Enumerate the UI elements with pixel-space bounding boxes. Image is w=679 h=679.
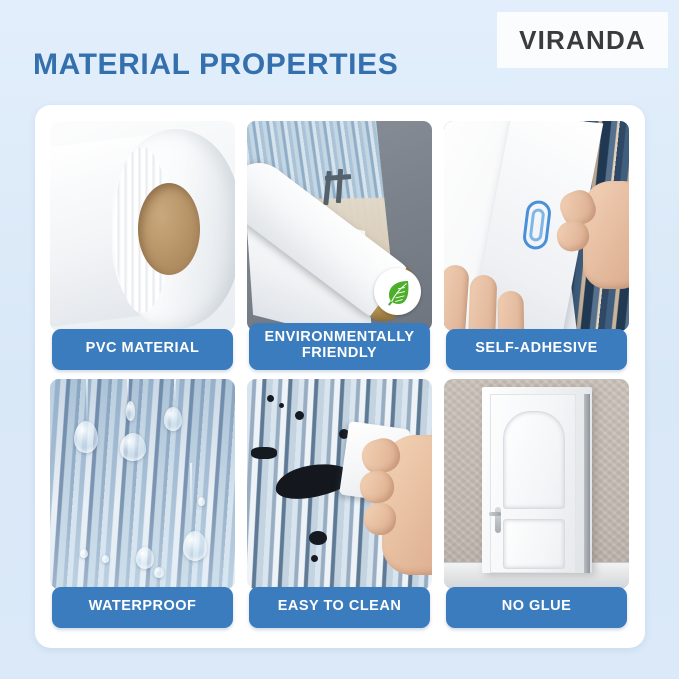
feature-cell-easy-to-clean[interactable]: EASY TO CLEAN — [247, 379, 432, 628]
features-card: PVC MATERIAL — [35, 105, 645, 648]
feature-label-environmentally-friendly: ENVIRONMENTALLY FRIENDLY — [249, 323, 430, 370]
feature-label-waterproof: WATERPROOF — [52, 587, 233, 628]
feature-cell-waterproof[interactable]: WATERPROOF — [50, 379, 235, 628]
page-title: MATERIAL PROPERTIES — [33, 48, 398, 82]
paperclip-icon — [519, 197, 555, 252]
easy-to-clean-photo — [247, 379, 432, 589]
feature-cell-self-adhesive[interactable]: SELF-ADHESIVE — [444, 121, 629, 370]
features-grid: PVC MATERIAL — [50, 121, 630, 628]
feature-label-self-adhesive: SELF-ADHESIVE — [446, 329, 627, 370]
brand-name: VIRANDA — [519, 25, 646, 56]
feature-cell-environmentally-friendly[interactable]: ENVIRONMENTALLY FRIENDLY — [247, 121, 432, 370]
waterproof-photo — [50, 379, 235, 589]
infographic-poster: VIRANDA MATERIAL PROPERTIES PVC MATERIAL — [0, 0, 679, 679]
feature-label-no-glue: NO GLUE — [446, 587, 627, 628]
pvc-roll-photo — [50, 121, 235, 331]
no-glue-photo — [444, 379, 629, 589]
feature-cell-no-glue[interactable]: NO GLUE — [444, 379, 629, 628]
eco-wallpaper-photo — [247, 121, 432, 331]
feature-cell-pvc-material[interactable]: PVC MATERIAL — [50, 121, 235, 370]
self-adhesive-photo — [444, 121, 629, 331]
feature-label-easy-to-clean: EASY TO CLEAN — [249, 587, 430, 628]
feature-label-pvc-material: PVC MATERIAL — [52, 329, 233, 370]
brand-logo: VIRANDA — [497, 12, 668, 68]
leaf-icon — [374, 268, 421, 315]
